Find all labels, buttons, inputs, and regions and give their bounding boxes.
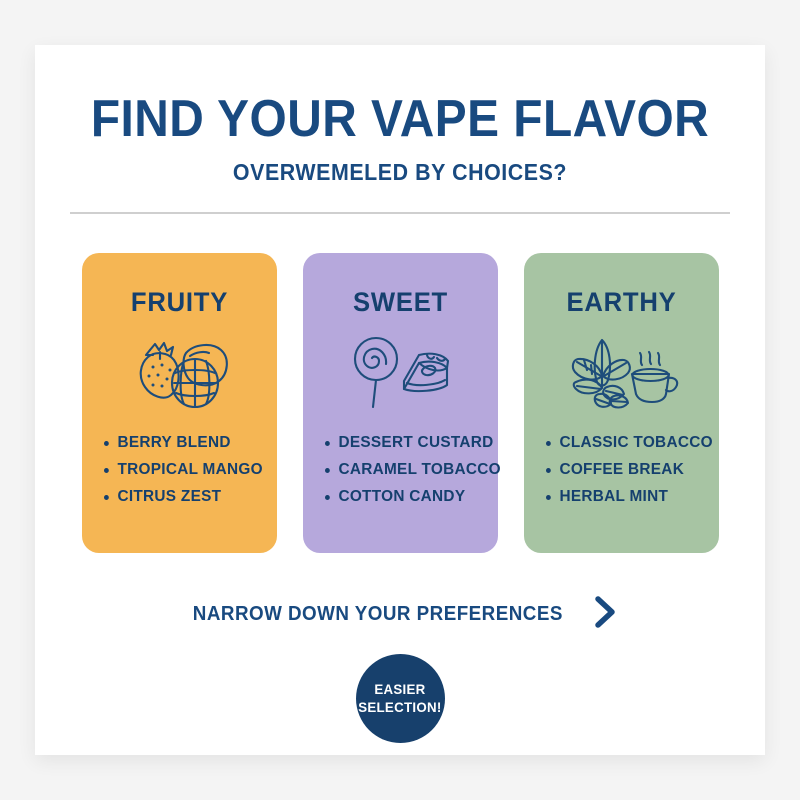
- flavor-card-fruity[interactable]: FRUITY: [82, 253, 277, 553]
- flavor-card-earthy[interactable]: EARTHY: [524, 253, 719, 553]
- list-item: COFFEE BREAK: [546, 461, 712, 479]
- poster-frame: FIND YOUR VAPE FLAVOR OVERWEMELED BY CHO…: [35, 45, 765, 755]
- chevron-right-icon[interactable]: [593, 595, 619, 634]
- tobacco-leaf-coffee-cup-icon: [524, 330, 719, 416]
- flavor-cards-row: FRUITY: [35, 253, 765, 553]
- list-item: COTTON CANDY: [325, 488, 491, 506]
- cta-row[interactable]: NARROW DOWN YOUR PREFERENCES: [35, 595, 765, 634]
- cta-label: NARROW DOWN YOUR PREFERENCES: [193, 603, 563, 626]
- poster-header: FIND YOUR VAPE FLAVOR OVERWEMELED BY CHO…: [35, 45, 765, 214]
- page-subtitle: OVERWEMELED BY CHOICES?: [61, 159, 740, 186]
- status-badge[interactable]: EASIER SELECTION!: [356, 654, 445, 743]
- flavor-list: DESSERT CUSTARD CARAMEL TOBACCO COTTON C…: [303, 434, 498, 506]
- flavor-list: BERRY BLEND TROPICAL MANGO CITRUS ZEST: [82, 434, 277, 506]
- badge-line-2: SELECTION!: [358, 699, 441, 716]
- list-item: HERBAL MINT: [546, 488, 712, 506]
- lollipop-pie-slice-icon: [303, 330, 498, 416]
- badge-line-1: EASIER: [374, 681, 425, 698]
- header-divider: [70, 212, 730, 214]
- flavor-card-title: EARTHY: [528, 287, 713, 318]
- list-item: DESSERT CUSTARD: [325, 434, 491, 452]
- list-item: CARAMEL TOBACCO: [325, 461, 491, 479]
- list-item: TROPICAL MANGO: [104, 461, 270, 479]
- page-title: FIND YOUR VAPE FLAVOR: [64, 93, 736, 145]
- list-item: CITRUS ZEST: [104, 488, 270, 506]
- list-item: CLASSIC TOBACCO: [546, 434, 712, 452]
- poster-footer: NARROW DOWN YOUR PREFERENCES EASIER SELE…: [35, 595, 765, 743]
- strawberry-pineapple-lemon-icon: [82, 330, 277, 416]
- flavor-card-title: SWEET: [307, 287, 492, 318]
- flavor-card-sweet[interactable]: SWEET DESSERT CUSTARD: [303, 253, 498, 553]
- list-item: BERRY BLEND: [104, 434, 270, 452]
- flavor-list: CLASSIC TOBACCO COFFEE BREAK HERBAL MINT: [524, 434, 719, 506]
- flavor-card-title: FRUITY: [86, 287, 271, 318]
